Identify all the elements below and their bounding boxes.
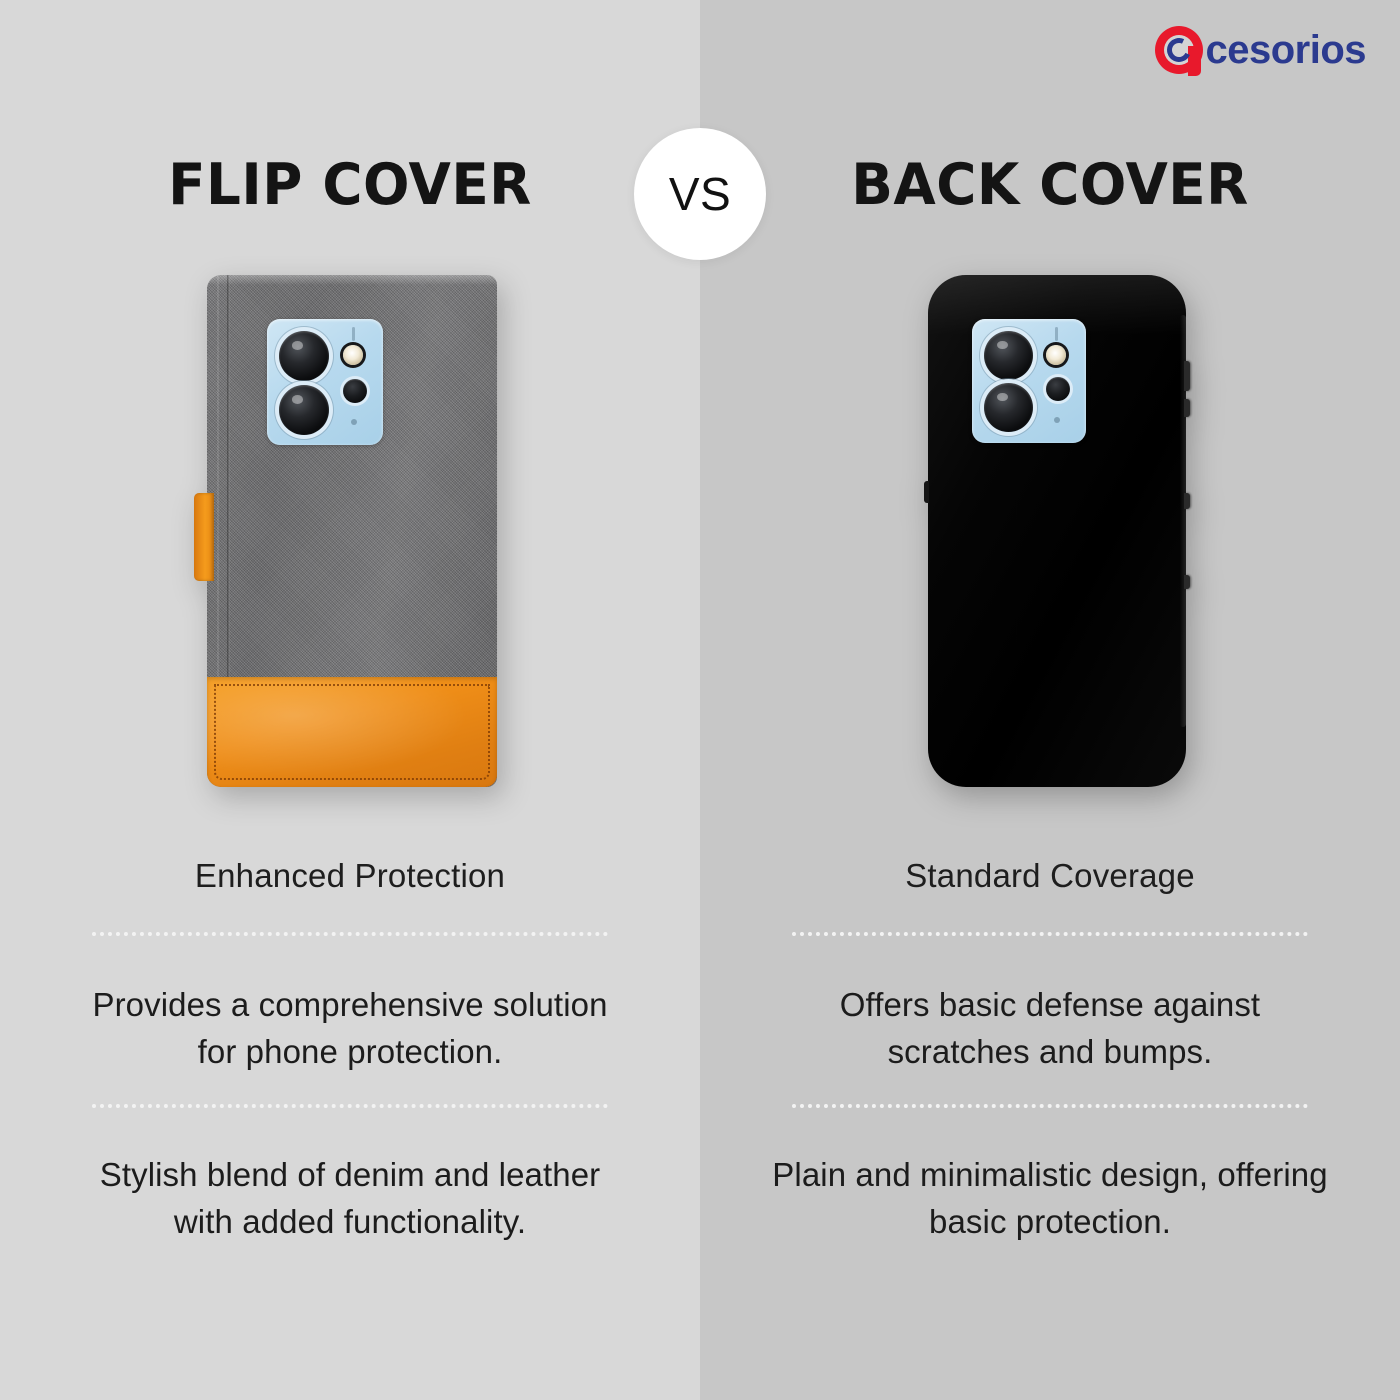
power-button-icon — [1184, 493, 1190, 509]
right-divider-2 — [792, 1104, 1308, 1108]
flip-cover-leather-band — [207, 677, 497, 787]
flip-cover-closure-tab — [194, 493, 214, 581]
brand-logo: cesorios — [1155, 22, 1366, 78]
left-divider-2 — [92, 1104, 608, 1108]
vs-label: VS — [669, 167, 731, 221]
right-caption: Standard Coverage — [740, 857, 1360, 895]
right-feature-2: Plain and minimalistic design, offering … — [770, 1152, 1330, 1246]
infographic-canvas: cesorios FLIP COVER BACK COVER VS — [0, 0, 1400, 1400]
right-feature-1: Offers basic defense against scratches a… — [770, 982, 1330, 1076]
volume-down-button-icon — [1184, 399, 1190, 417]
side-bump-icon — [1184, 575, 1190, 589]
left-divider-1 — [92, 932, 608, 936]
acesorios-logo-icon — [1155, 26, 1203, 74]
volume-up-button-icon — [1184, 361, 1190, 391]
vs-badge: VS — [634, 128, 766, 260]
right-divider-1 — [792, 932, 1308, 936]
right-heading: BACK COVER — [752, 152, 1347, 218]
camera-module-icon — [972, 319, 1086, 443]
flip-cover-phone-case — [207, 275, 497, 787]
left-side-notch-icon — [924, 481, 929, 503]
left-feature-1: Provides a comprehensive solution for ph… — [70, 982, 630, 1076]
left-heading: FLIP COVER — [52, 152, 647, 218]
left-feature-2: Stylish blend of denim and leather with … — [70, 1152, 630, 1246]
left-caption: Enhanced Protection — [40, 857, 660, 895]
back-cover-phone-case — [928, 275, 1186, 787]
camera-module-icon — [267, 319, 383, 445]
brand-name: cesorios — [1205, 30, 1366, 70]
